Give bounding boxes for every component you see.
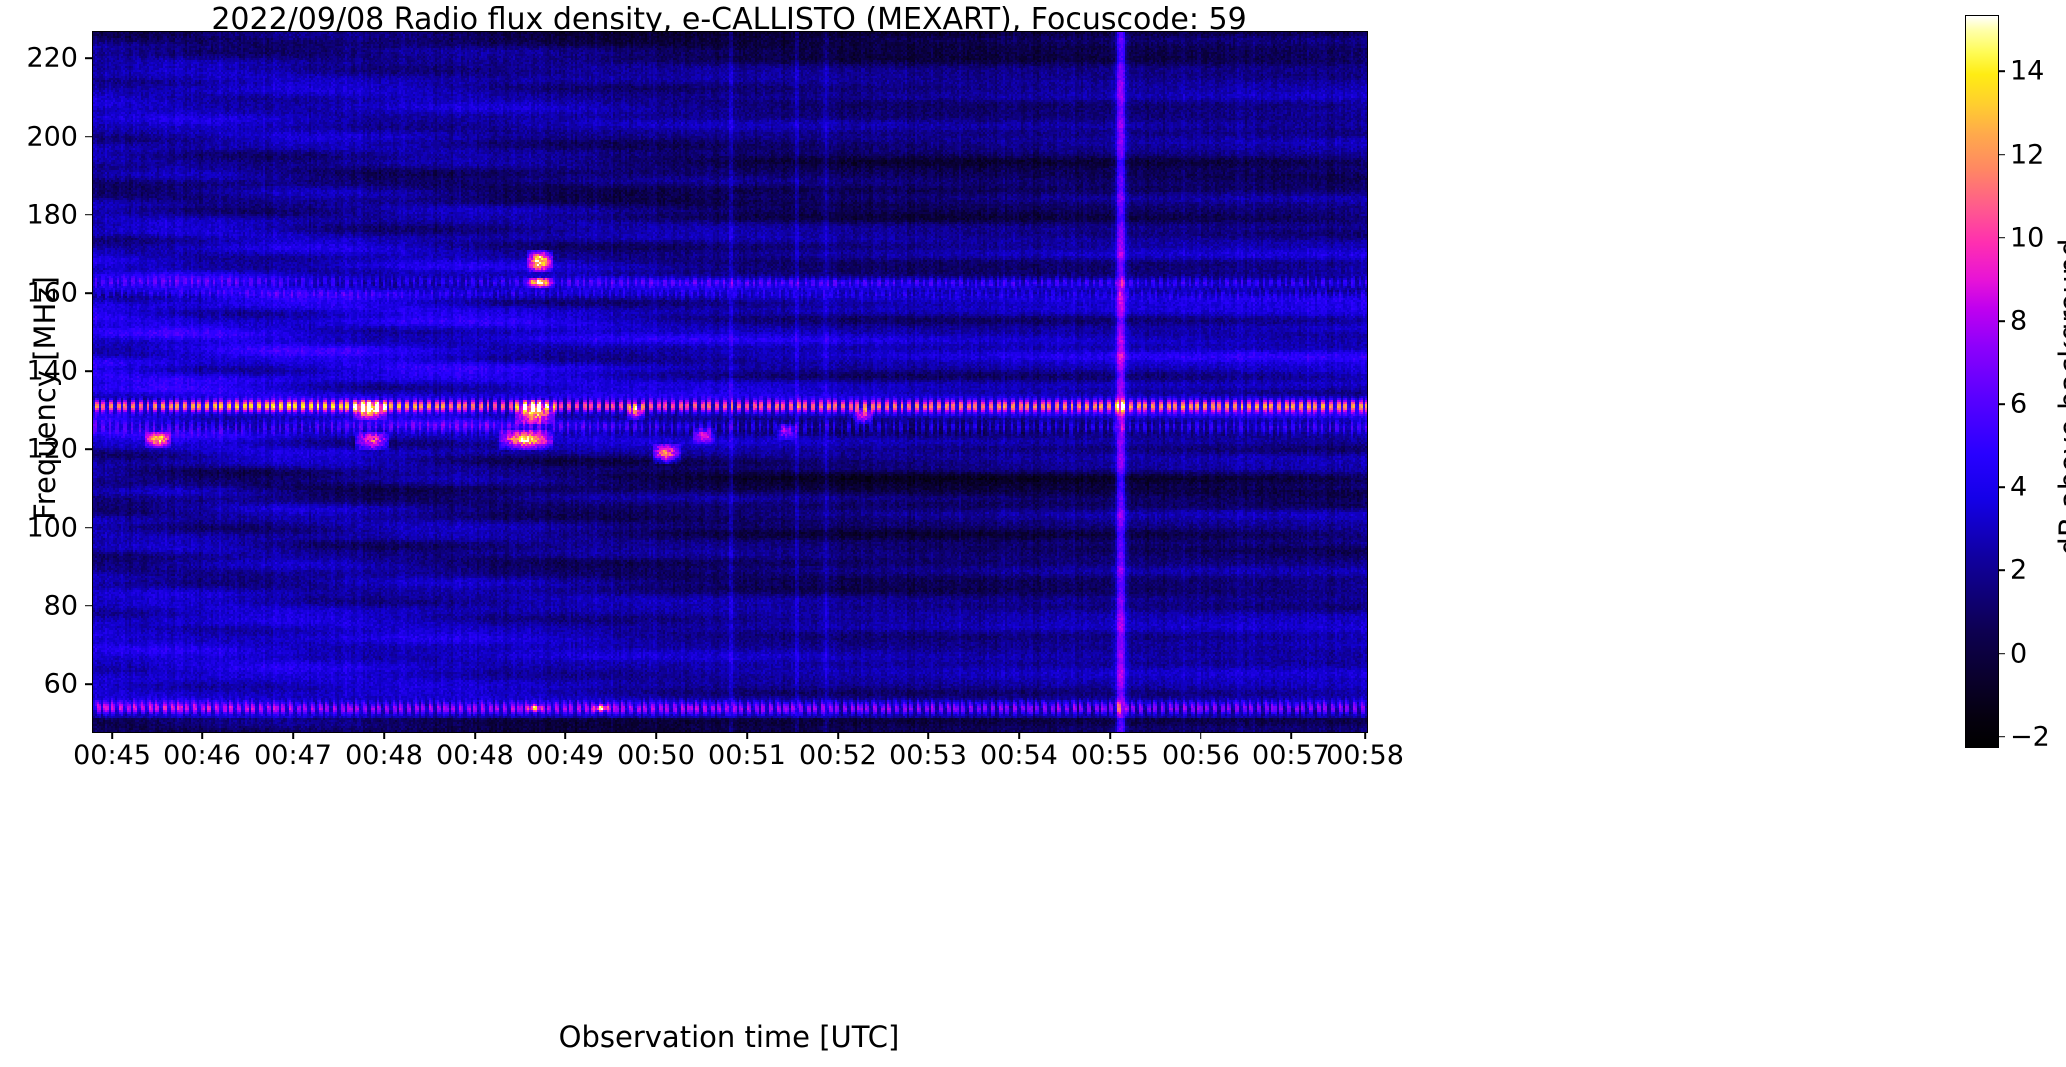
colorbar-tick-mark [1998, 71, 2005, 73]
colorbar-tick-label: 14 [2010, 56, 2044, 87]
colorbar-tick-mark [1998, 487, 2005, 489]
colorbar-tick-label: 2 [2010, 555, 2027, 586]
colorbar-tick-mark [1998, 403, 2005, 405]
colorbar-tick-mark [1998, 237, 2005, 239]
colorbar-tick-label: 8 [2010, 305, 2027, 336]
colorbar-tick-label: 10 [2010, 222, 2044, 253]
colorbar-label: dB above background [2053, 117, 2066, 677]
colorbar-tick-label: 12 [2010, 139, 2044, 170]
colorbar-tick-mark [1998, 736, 2005, 738]
colorbar-tick-label: 0 [2010, 638, 2027, 669]
colorbar-tick-label: 4 [2010, 472, 2027, 503]
colorbar-tick-mark [1998, 320, 2005, 322]
colorbar-tick-label: −2 [2010, 721, 2050, 752]
colorbar-tick-label: 6 [2010, 389, 2027, 420]
colorbar-tick-mark [1998, 570, 2005, 572]
colorbar-tick-mark [1998, 154, 2005, 156]
colorbar-axis: 14121086420−2 [0, 0, 2066, 1067]
colorbar-tick-mark [1998, 653, 2005, 655]
